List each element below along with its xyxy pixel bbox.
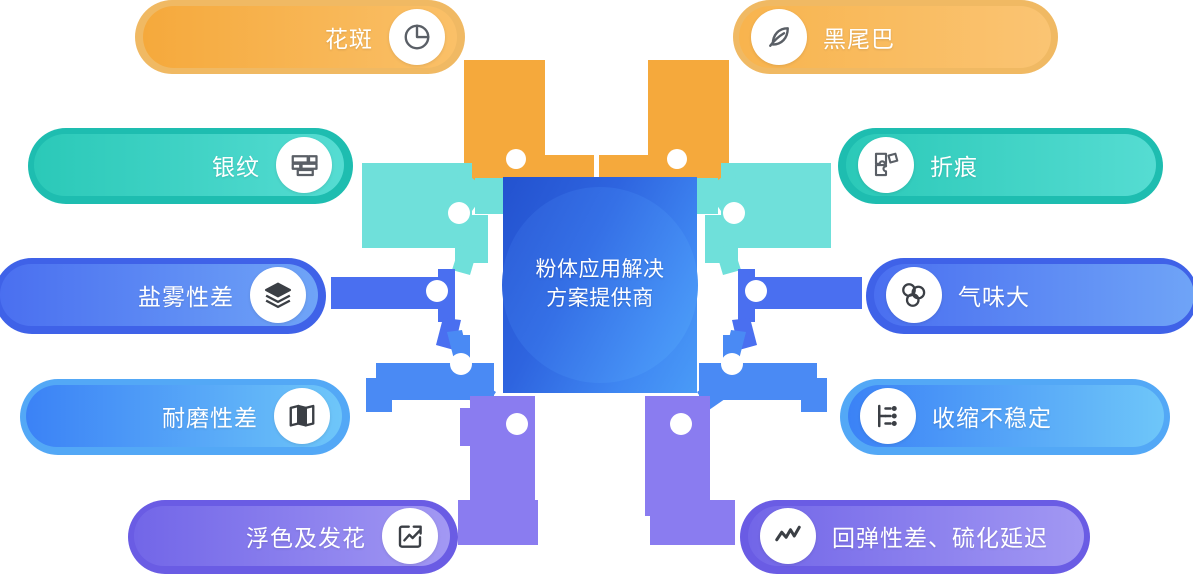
- node-shou-suo-label: 收缩不稳定: [932, 399, 1052, 433]
- puzzle-piece-icon: [858, 137, 914, 193]
- node-yin-wen-label: 银纹: [212, 148, 260, 182]
- node-zhe-hen[interactable]: 折痕: [846, 134, 1156, 196]
- node-qi-wei-da-label: 气味大: [958, 278, 1030, 312]
- connector-nai-mo-xing-cha: [366, 330, 496, 412]
- connector-shou-suo-bu-wen-ding: [697, 330, 827, 412]
- node-zhe-hen-wrap: 折痕: [838, 128, 1163, 204]
- node-zhe-hen-label: 折痕: [930, 148, 978, 182]
- node-shou-suo-wrap: 收缩不稳定: [840, 379, 1170, 455]
- sitemap-icon: [860, 388, 916, 444]
- node-qi-wei-da-wrap: 气味大: [866, 258, 1193, 334]
- node-yin-wen-wrap: 银纹: [28, 128, 353, 204]
- node-yan-wu-xing-cha[interactable]: 盐雾性差: [0, 264, 318, 326]
- node-shou-suo-bu-wen-ding[interactable]: 收缩不稳定: [848, 385, 1164, 447]
- node-fu-se-label: 浮色及发花: [246, 519, 366, 553]
- trending-up-box-icon: [382, 508, 438, 564]
- node-hei-wei-ba-wrap: 黑尾巴: [733, 0, 1058, 74]
- node-fu-se-ji-fa-hua[interactable]: 浮色及发花: [134, 506, 450, 566]
- center-node[interactable]: 粉体应用解决 方案提供商: [503, 177, 697, 393]
- node-hui-tan-xing-cha[interactable]: 回弹性差、硫化延迟: [748, 506, 1084, 566]
- node-yan-wu-wrap: 盐雾性差: [0, 258, 326, 334]
- node-hui-tan-wrap: 回弹性差、硫化延迟: [740, 500, 1090, 574]
- node-qi-wei-da[interactable]: 气味大: [874, 264, 1193, 326]
- recycle-icon: [886, 267, 942, 323]
- node-nai-mo-label: 耐磨性差: [162, 399, 258, 433]
- connector-zhe-hen: [690, 163, 831, 275]
- node-hui-tan-label: 回弹性差、硫化延迟: [832, 519, 1048, 553]
- node-hua-ban-wrap: 花斑: [135, 0, 465, 74]
- node-nai-mo-wrap: 耐磨性差: [20, 379, 350, 455]
- layers-icon: [250, 267, 306, 323]
- connector-qi-wei-da: [732, 269, 862, 350]
- connector-yin-wen: [362, 163, 503, 275]
- connector-fu-se-ji-fa-hua: [458, 396, 538, 545]
- node-hei-wei-ba-label: 黑尾巴: [823, 20, 895, 54]
- infographic-canvas: 粉体应用解决 方案提供商 花斑 黑尾巴 银纹: [0, 0, 1193, 577]
- node-fu-se-wrap: 浮色及发花: [128, 500, 458, 574]
- node-nai-mo-xing-cha[interactable]: 耐磨性差: [26, 385, 342, 447]
- map-icon: [274, 388, 330, 444]
- node-yan-wu-label: 盐雾性差: [138, 278, 234, 312]
- node-yin-wen[interactable]: 银纹: [34, 134, 344, 196]
- node-hua-ban-label: 花斑: [325, 20, 373, 54]
- center-node-label: 粉体应用解决 方案提供商: [536, 256, 665, 314]
- node-hua-ban[interactable]: 花斑: [143, 6, 457, 68]
- line-chart-icon: [760, 508, 816, 564]
- connector-yan-wu-xing-cha: [331, 269, 461, 350]
- connector-hui-tan-xing-cha: [645, 396, 735, 545]
- brick-wall-icon: [276, 137, 332, 193]
- leaf-icon: [751, 9, 807, 65]
- node-hei-wei-ba[interactable]: 黑尾巴: [739, 6, 1051, 68]
- pie-chart-icon: [389, 9, 445, 65]
